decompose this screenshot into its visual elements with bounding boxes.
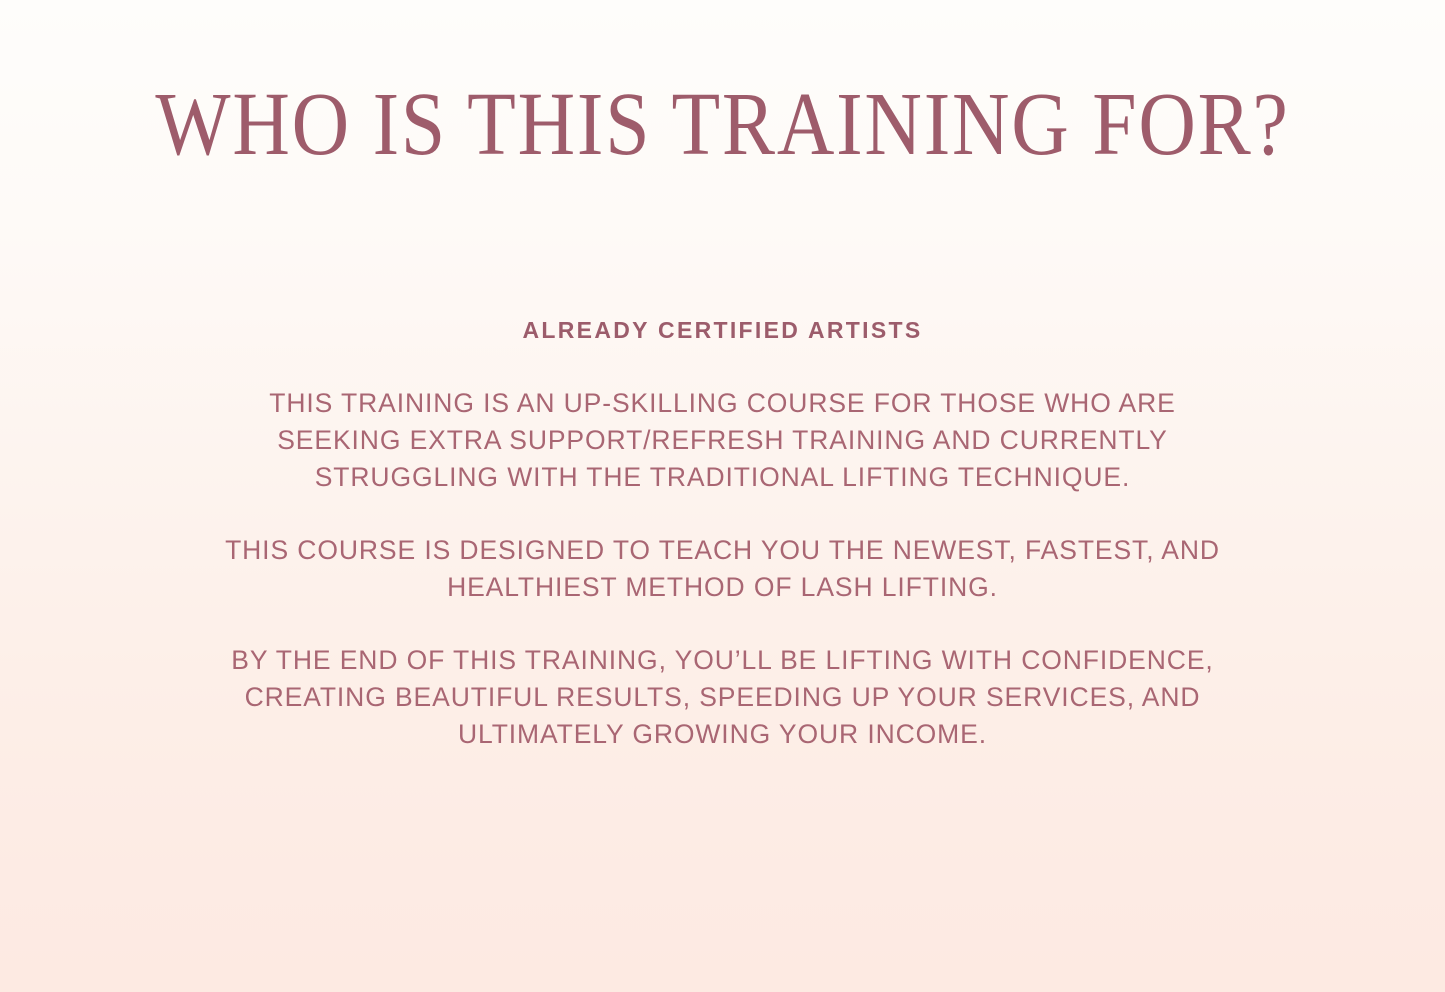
body-block: ALREADY CERTIFIED ARTISTS THIS TRAINING … (193, 316, 1253, 753)
body-paragraph-1: THIS TRAINING IS AN UP-SKILLING COURSE F… (193, 385, 1253, 496)
body-paragraph-2: THIS COURSE IS DESIGNED TO TEACH YOU THE… (193, 532, 1253, 606)
body-paragraph-3: BY THE END OF THIS TRAINING, YOU’LL BE L… (193, 642, 1253, 753)
slide-canvas: WHO IS THIS TRAINING FOR? ALREADY CERTIF… (0, 0, 1445, 992)
title-block: WHO IS THIS TRAINING FOR? (0, 78, 1445, 172)
page-title: WHO IS THIS TRAINING FOR? (83, 78, 1362, 172)
audience-subheading: ALREADY CERTIFIED ARTISTS (193, 316, 1253, 345)
